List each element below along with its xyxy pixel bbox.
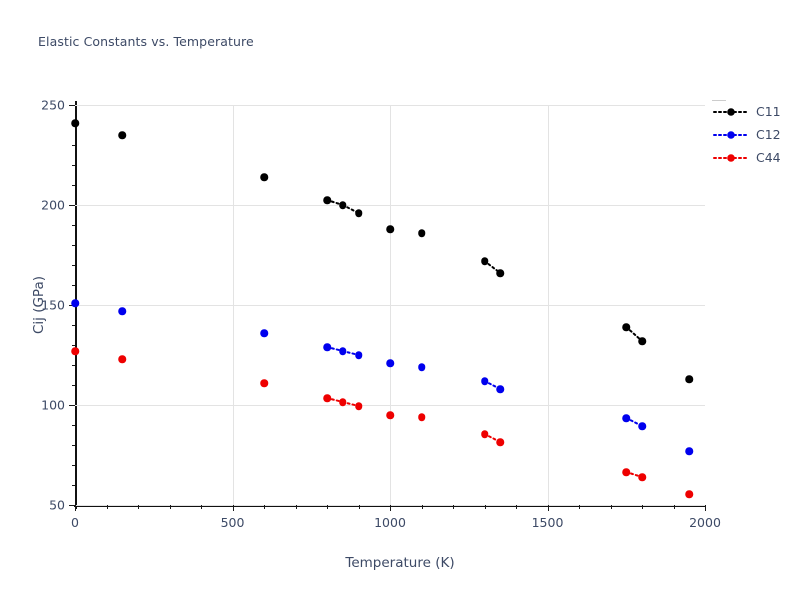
- x-tick-minor: [674, 505, 675, 509]
- x-tick-label: 500: [198, 515, 268, 530]
- x-tick-minor: [201, 505, 202, 509]
- x-tick-minor: [579, 505, 580, 509]
- data-point-marker: [260, 329, 268, 337]
- data-point-marker: [355, 209, 363, 217]
- x-tick-minor: [485, 505, 486, 509]
- data-point-marker: [386, 359, 394, 367]
- x-tick-label: 1000: [355, 515, 425, 530]
- data-point-marker: [497, 385, 505, 393]
- data-point-marker: [638, 422, 646, 430]
- x-tick-major: [390, 505, 391, 511]
- x-tick-major: [75, 505, 76, 511]
- data-point-marker: [260, 173, 268, 181]
- legend-item-c11[interactable]: C11: [712, 100, 798, 123]
- data-point-marker: [481, 430, 489, 438]
- data-point-marker: [119, 131, 127, 139]
- y-axis-title: Cij (GPa): [31, 276, 47, 334]
- data-point-marker: [260, 379, 268, 387]
- data-point-marker: [339, 398, 347, 406]
- x-tick-minor: [327, 505, 328, 509]
- chart-figure: Elastic Constants vs. Temperature 501001…: [0, 0, 800, 600]
- chart-legend: C11C12C44: [712, 100, 798, 169]
- x-tick-minor: [359, 505, 360, 509]
- data-point-marker: [638, 473, 646, 481]
- data-point-marker: [119, 355, 127, 363]
- series-connector-lines: [75, 105, 705, 505]
- legend-label: C12: [756, 127, 781, 142]
- data-point-marker: [323, 343, 331, 351]
- data-point-marker: [497, 269, 505, 277]
- data-point-marker: [355, 402, 363, 410]
- x-axis-title: Temperature (K): [0, 555, 800, 571]
- x-tick-minor: [138, 505, 139, 509]
- x-tick-label: 2000: [670, 515, 740, 530]
- data-point-marker: [497, 438, 505, 446]
- y-tick-label: 50: [5, 498, 65, 513]
- data-point-marker: [71, 299, 79, 307]
- data-point-marker: [386, 225, 394, 233]
- data-point-marker: [386, 411, 394, 419]
- x-tick-minor: [296, 505, 297, 509]
- data-point-marker: [686, 375, 694, 383]
- data-point-marker: [623, 323, 631, 331]
- legend-label: C44: [756, 150, 781, 165]
- data-point-marker: [339, 347, 347, 355]
- legend-marker-icon: [712, 152, 750, 164]
- x-tick-minor: [642, 505, 643, 509]
- chart-title: Elastic Constants vs. Temperature: [38, 34, 254, 49]
- plot-area: 501001502002500500100015002000 Cij (GPa): [75, 105, 705, 505]
- data-point-marker: [481, 377, 489, 385]
- legend-label: C11: [756, 104, 781, 119]
- x-tick-major: [233, 505, 234, 511]
- data-point-marker: [71, 347, 79, 355]
- data-point-marker: [339, 201, 347, 209]
- data-point-marker: [418, 229, 426, 237]
- legend-marker-icon: [712, 129, 750, 141]
- x-tick-minor: [611, 505, 612, 509]
- x-tick-minor: [422, 505, 423, 509]
- x-tick-minor: [516, 505, 517, 509]
- x-tick-label: 1500: [513, 515, 583, 530]
- y-tick-label: 200: [5, 198, 65, 213]
- data-point-marker: [119, 307, 127, 315]
- data-point-marker: [481, 257, 489, 265]
- legend-marker-icon: [712, 106, 750, 118]
- y-tick-label: 100: [5, 398, 65, 413]
- x-tick-minor: [264, 505, 265, 509]
- data-point-marker: [323, 196, 331, 204]
- data-point-marker: [686, 447, 694, 455]
- data-point-marker: [418, 363, 426, 371]
- data-point-marker: [418, 413, 426, 421]
- x-tick-major: [548, 505, 549, 511]
- legend-item-c12[interactable]: C12: [712, 123, 798, 146]
- data-point-marker: [323, 394, 331, 402]
- x-tick-minor: [107, 505, 108, 509]
- data-point-marker: [638, 337, 646, 345]
- data-point-marker: [71, 119, 79, 127]
- x-tick-major: [705, 505, 706, 511]
- data-point-marker: [355, 351, 363, 359]
- data-point-marker: [623, 468, 631, 476]
- data-point-marker: [686, 490, 694, 498]
- x-tick-label: 0: [40, 515, 110, 530]
- data-point-marker: [623, 414, 631, 422]
- x-tick-minor: [170, 505, 171, 509]
- y-tick-label: 250: [5, 98, 65, 113]
- legend-item-c44[interactable]: C44: [712, 146, 798, 169]
- x-tick-minor: [453, 505, 454, 509]
